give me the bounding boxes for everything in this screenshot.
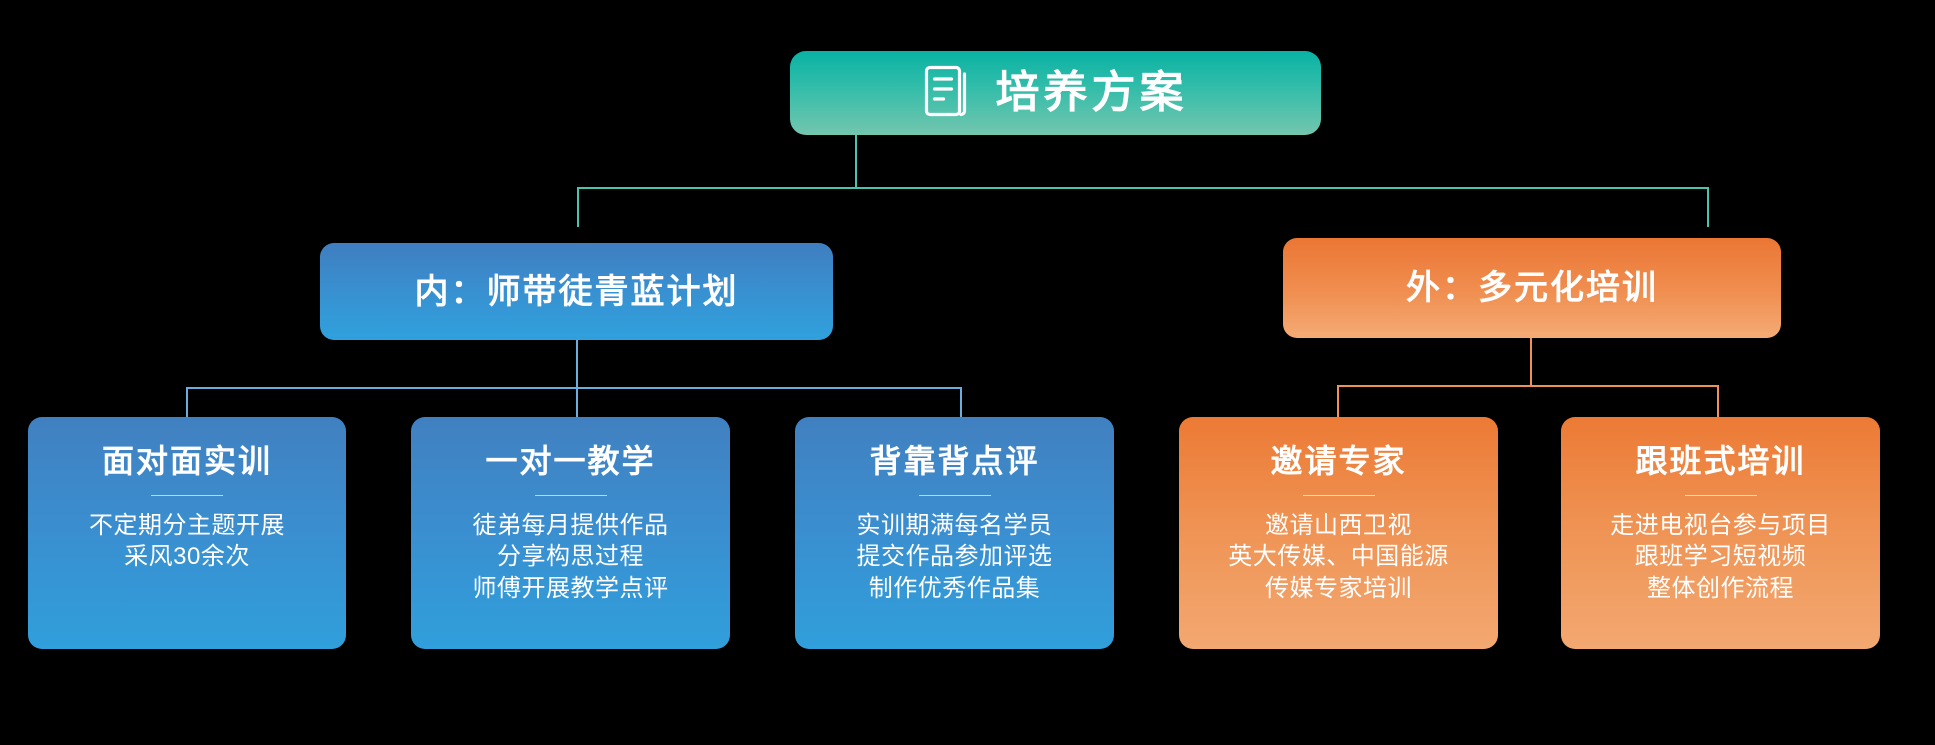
leaf-body: 走进电视台参与项目 跟班学习短视频 整体创作流程: [1610, 510, 1831, 605]
leaf-divider: [151, 495, 223, 496]
connector-blue-horizontal: [186, 387, 962, 389]
leaf-body: 邀请山西卫视 英大传媒、中国能源 传媒专家培训: [1228, 510, 1449, 605]
document-list-icon: [924, 65, 970, 121]
leaf-divider: [1685, 495, 1757, 496]
connector-orange-horizontal: [1337, 385, 1719, 387]
connector-orange-to-leaf-1: [1337, 385, 1339, 417]
leaf-body: 徒弟每月提供作品 分享构思过程 师傅开展教学点评: [473, 510, 669, 605]
leaf-title: 跟班式培训: [1635, 445, 1805, 479]
connector-orange-to-leaf-2: [1717, 385, 1719, 417]
leaf-node-one-on-one-teaching[interactable]: 一对一教学 徒弟每月提供作品 分享构思过程 师傅开展教学点评: [411, 417, 730, 649]
connector-blue-to-leaf-1: [186, 387, 188, 417]
connector-root-stem: [855, 134, 857, 188]
connector-root-to-right-branch: [1707, 187, 1709, 227]
leaf-title: 背靠背点评: [869, 445, 1039, 479]
leaf-node-face-to-face-training[interactable]: 面对面实训 不定期分主题开展 采风30余次: [28, 417, 346, 649]
leaf-divider: [1303, 495, 1375, 496]
leaf-node-back-to-back-review[interactable]: 背靠背点评 实训期满每名学员 提交作品参加评选 制作优秀作品集: [795, 417, 1114, 649]
leaf-body: 实训期满每名学员 提交作品参加评选 制作优秀作品集: [857, 510, 1053, 605]
connector-root-to-left-branch: [577, 187, 579, 227]
connector-orange-stem: [1530, 338, 1532, 386]
root-node[interactable]: 培养方案: [790, 51, 1321, 135]
connector-blue-to-leaf-2: [576, 387, 578, 417]
branch-node-external[interactable]: 外：多元化培训: [1283, 238, 1781, 338]
leaf-node-invite-experts[interactable]: 邀请专家 邀请山西卫视 英大传媒、中国能源 传媒专家培训: [1179, 417, 1498, 649]
leaf-divider: [535, 495, 607, 496]
connector-root-horizontal: [577, 187, 1709, 189]
leaf-title: 邀请专家: [1270, 445, 1406, 479]
root-node-label: 培养方案: [996, 71, 1188, 115]
connector-blue-stem: [576, 340, 578, 388]
connector-blue-to-leaf-3: [960, 387, 962, 417]
leaf-node-apprentice-training[interactable]: 跟班式培训 走进电视台参与项目 跟班学习短视频 整体创作流程: [1561, 417, 1880, 649]
leaf-title: 一对一教学: [485, 445, 655, 479]
branch-node-internal-label: 内：师带徒青蓝计划: [415, 275, 739, 309]
leaf-divider: [919, 495, 991, 496]
branch-node-internal[interactable]: 内：师带徒青蓝计划: [320, 243, 833, 340]
leaf-body: 不定期分主题开展 采风30余次: [89, 510, 285, 573]
branch-node-external-label: 外：多元化培训: [1406, 271, 1658, 305]
leaf-title: 面对面实训: [102, 445, 272, 479]
diagram-canvas: 培养方案 内：师带徒青蓝计划 外：多元化培训 面对面实训 不定期分主题开展 采风…: [0, 0, 1935, 745]
